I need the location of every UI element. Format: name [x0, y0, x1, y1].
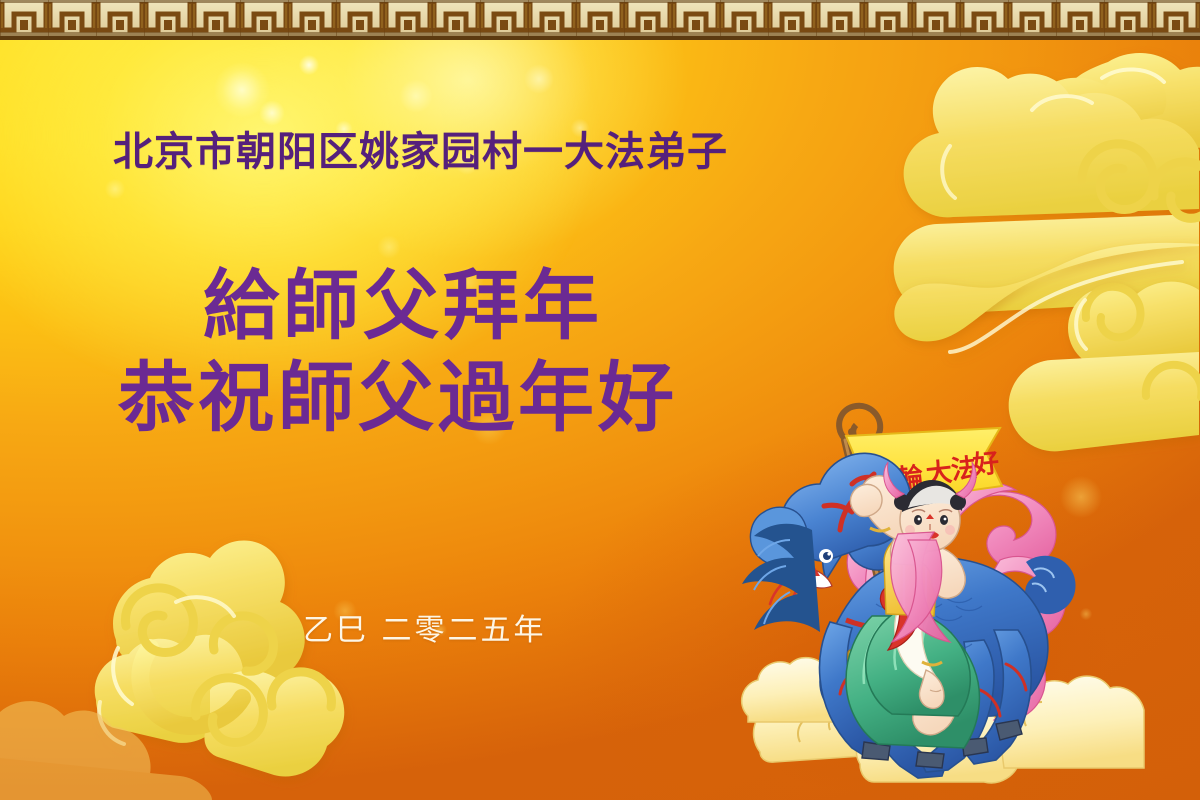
sender-line: 北京市朝阳区姚家园村一大法弟子 [113, 132, 728, 172]
greeting-line-1: 給師父拜年 [203, 268, 818, 344]
date-line: 乙巳 二零二五年 [303, 616, 547, 646]
greeting-card: 法 輪 大 法 好 [0, 0, 1200, 800]
greeting-block: 給師父拜年 恭祝師父過年好 [118, 268, 818, 436]
decorative-top-border [0, 0, 1200, 40]
greeting-line-2: 恭祝師父過年好 [118, 360, 818, 436]
